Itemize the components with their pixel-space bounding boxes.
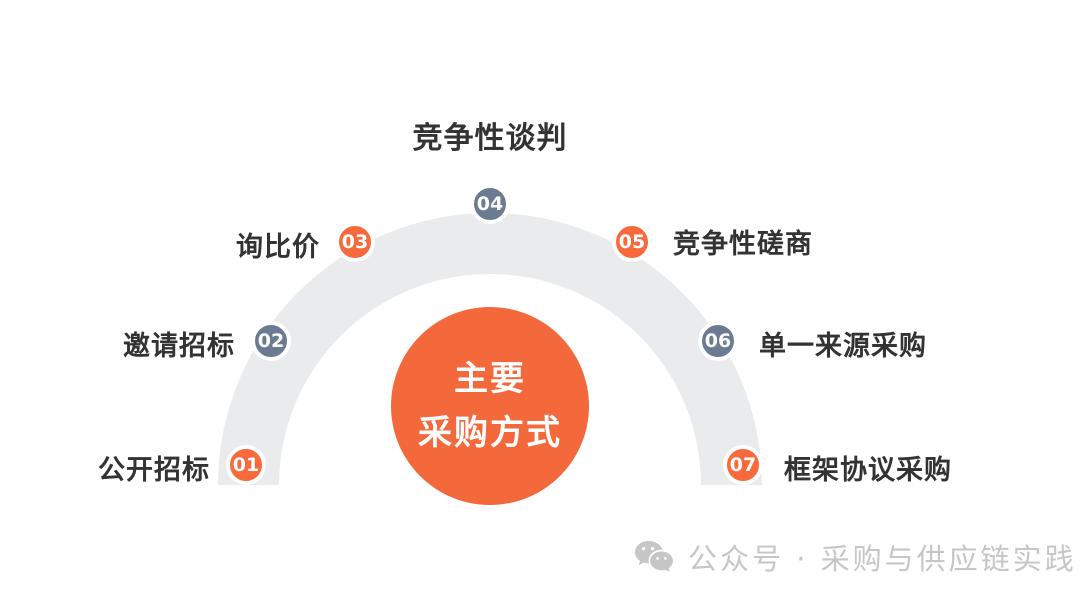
step-label-07: 框架协议采购 bbox=[784, 448, 1034, 487]
step-badge-04[interactable]: 04 bbox=[470, 184, 510, 224]
center-circle-line-1: 主要 bbox=[454, 358, 526, 401]
step-badge-05[interactable]: 05 bbox=[612, 222, 652, 262]
center-circle-line-2: 采购方式 bbox=[418, 412, 562, 455]
watermark-text: 公众号 · 采购与供应链实践 bbox=[688, 536, 1077, 578]
center-circle: 主要 采购方式 bbox=[391, 307, 589, 505]
step-badge-02[interactable]: 02 bbox=[251, 321, 291, 361]
step-label-04: 竞争性谈判 bbox=[345, 113, 635, 157]
step-badge-07[interactable]: 07 bbox=[723, 445, 763, 485]
step-label-02: 邀请招标 bbox=[65, 324, 235, 363]
step-label-01: 公开招标 bbox=[40, 448, 210, 487]
step-label-05: 竞争性磋商 bbox=[673, 222, 923, 261]
wechat-icon bbox=[634, 540, 674, 574]
step-badge-03[interactable]: 03 bbox=[335, 222, 375, 262]
step-badge-01[interactable]: 01 bbox=[226, 445, 266, 485]
arc-band bbox=[0, 0, 1080, 606]
infographic-canvas: 主要 采购方式 公开招标 01 邀请招标 02 询比价 03 竞争性谈判 04 … bbox=[0, 0, 1080, 606]
step-label-06: 单一来源采购 bbox=[759, 324, 1009, 363]
watermark: 公众号 · 采购与供应链实践 bbox=[634, 536, 1077, 578]
step-badge-06[interactable]: 06 bbox=[698, 321, 738, 361]
step-label-03: 询比价 bbox=[177, 225, 320, 264]
